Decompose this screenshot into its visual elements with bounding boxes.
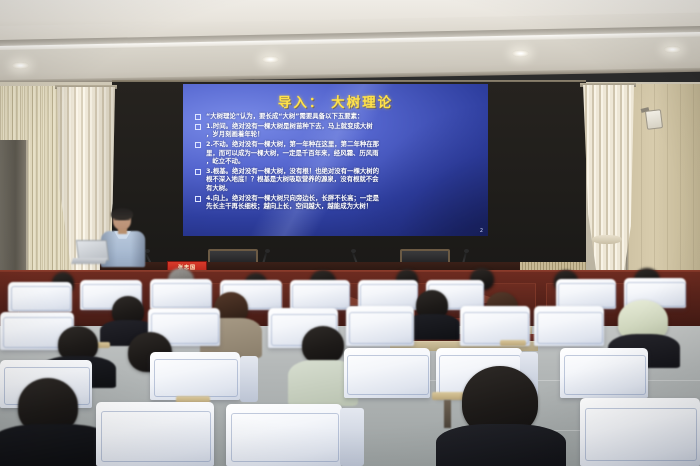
- auditorium-seat[interactable]: [344, 348, 430, 398]
- auditorium-seat[interactable]: [346, 306, 414, 346]
- microphone-head-icon: [351, 249, 356, 253]
- square-bullet-icon: [195, 142, 201, 148]
- list-item: 4.向上。绝对没有一棵大树只向旁边长，长胖不长高；一定是 先长主干再长细枝；越向…: [195, 194, 479, 211]
- slide-page-number: 2: [480, 228, 483, 234]
- bullet-text: “大树理论”认为，要长成“大树”需要具备以下五要素：: [206, 112, 479, 120]
- auditorium-seat[interactable]: [96, 402, 214, 466]
- square-bullet-icon: [195, 114, 201, 120]
- slide-title: 导入： 大树理论: [183, 91, 488, 111]
- bullet-text: 1.时间。绝对没有一棵大树是树苗种下去，马上就变成大树 ，岁月刻画着年轮！: [206, 122, 479, 139]
- square-bullet-icon: [195, 124, 201, 130]
- list-item: 3.根基。绝对没有一棵大树，没有根！也绝对没有一棵大树的 根不深入地底！？根基是…: [195, 167, 479, 192]
- auditorium-seat[interactable]: [534, 306, 604, 346]
- list-item: 2.不动。绝对没有一棵大树，第一年种在这里，第二年种在那 里，而可以成为一棵大树…: [195, 140, 479, 165]
- auditorium-seat[interactable]: [150, 352, 240, 400]
- wood-wall-right-grain: [628, 84, 700, 282]
- slide-bullet-list: “大树理论”认为，要长成“大树”需要具备以下五要素： 1.时间。绝对没有一棵大树…: [195, 112, 479, 212]
- auditorium-seat[interactable]: [580, 398, 700, 466]
- seat-side-panel: [340, 408, 364, 466]
- seat-side-panel: [240, 356, 258, 402]
- curtain-tieback: [592, 235, 622, 244]
- square-bullet-icon: [195, 169, 201, 175]
- microphone-head-icon: [145, 249, 150, 253]
- auditorium-seat[interactable]: [226, 404, 342, 466]
- auditorium-seat[interactable]: [556, 279, 616, 309]
- auditorium-seat[interactable]: [560, 348, 648, 398]
- microphone-head-icon: [464, 249, 469, 253]
- auditorium-seat[interactable]: [150, 279, 212, 309]
- square-bullet-icon: [195, 196, 201, 202]
- list-item: “大树理论”认为，要长成“大树”需要具备以下五要素：: [195, 112, 479, 120]
- bullet-text: 3.根基。绝对没有一棵大树，没有根！也绝对没有一棵大树的 根不深入地底！？根基是…: [206, 167, 479, 192]
- side-door[interactable]: [0, 140, 28, 281]
- microphone-head-icon: [265, 249, 270, 253]
- wall-speaker-icon: [645, 109, 663, 130]
- seat-armrest: [432, 392, 464, 400]
- auditorium-seat[interactable]: [290, 280, 350, 310]
- bullet-text: 2.不动。绝对没有一棵大树，第一年种在这里，第二年种在那 里，而可以成为一棵大树…: [206, 140, 479, 165]
- downlight-icon: [664, 46, 681, 53]
- downlight-icon: [12, 62, 29, 69]
- projected-slide: 导入： 大树理论 “大树理论”认为，要长成“大树”需要具备以下五要素： 1.时间…: [183, 84, 488, 236]
- presenter-glasses-icon: [114, 219, 130, 223]
- audience-shoulders: [436, 424, 566, 466]
- downlight-icon: [512, 50, 529, 57]
- laptop-keyboard-base: [71, 258, 106, 264]
- audience-head: [302, 326, 344, 364]
- list-item: 1.时间。绝对没有一棵大树是树苗种下去，马上就变成大树 ，岁月刻画着年轮！: [195, 122, 479, 139]
- seat-leg: [444, 400, 451, 428]
- auditorium-seat[interactable]: [8, 282, 72, 312]
- downlight-icon: [262, 56, 279, 63]
- seat-armrest: [500, 340, 526, 346]
- bullet-text: 4.向上。绝对没有一棵大树只向旁边长，长胖不长高；一定是 先长主干再长细枝；越向…: [206, 194, 479, 211]
- lecture-hall-photo: 导入： 大树理论 “大树理论”认为，要长成“大树”需要具备以下五要素： 1.时间…: [0, 0, 700, 466]
